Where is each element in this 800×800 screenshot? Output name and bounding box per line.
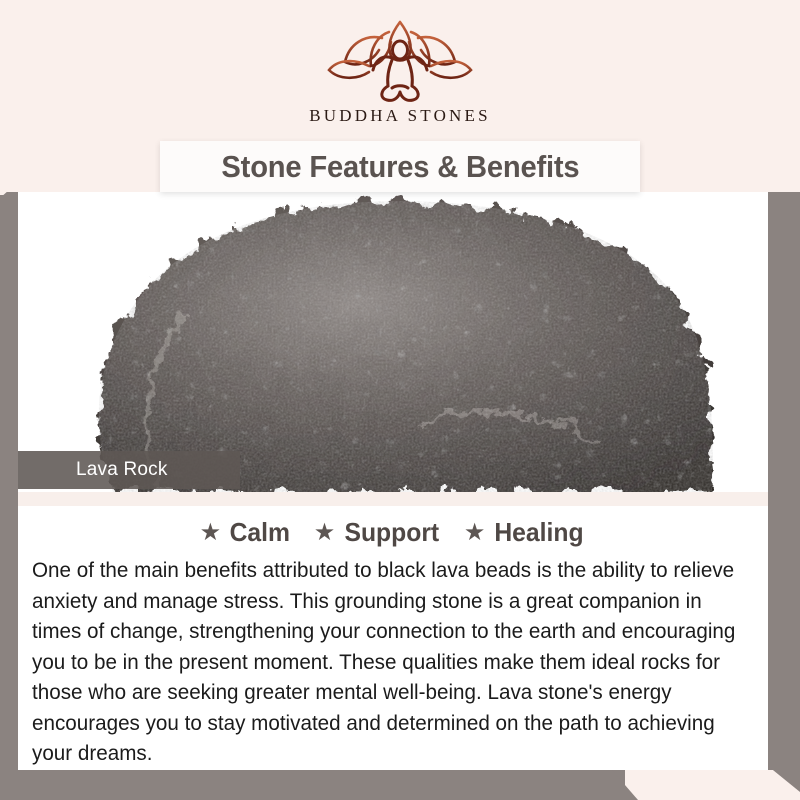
frame-right-bevel xyxy=(768,766,800,800)
benefit-label: Support xyxy=(345,517,440,548)
frame-bottom-accent xyxy=(0,770,625,800)
content-section: ★ Calm ★ Support ★ Healing One of the ma… xyxy=(18,506,768,770)
benefit-item-healing: ★ Healing xyxy=(464,517,586,548)
brand-logo: BUDDHA STONES xyxy=(0,16,800,126)
lava-rock-image xyxy=(18,192,768,492)
title-banner: Stone Features & Benefits xyxy=(160,141,640,192)
benefit-item-support: ★ Support xyxy=(314,517,442,548)
section-divider xyxy=(18,492,768,506)
description-text: One of the main benefits attributed to b… xyxy=(32,555,740,769)
benefit-label: Healing xyxy=(495,517,584,548)
benefit-item-calm: ★ Calm xyxy=(200,517,292,548)
benefits-row: ★ Calm ★ Support ★ Healing xyxy=(18,506,768,548)
benefit-label: Calm xyxy=(230,517,290,548)
star-icon: ★ xyxy=(200,521,222,545)
page-title: Stone Features & Benefits xyxy=(221,149,579,185)
lotus-meditation-icon xyxy=(325,16,475,104)
star-icon: ★ xyxy=(464,521,486,545)
photo-caption-label: Lava Rock xyxy=(76,459,168,481)
stone-photo xyxy=(18,192,768,492)
photo-caption-bar: Lava Rock xyxy=(18,451,240,489)
star-icon: ★ xyxy=(314,521,336,545)
brand-name: BUDDHA STONES xyxy=(309,106,491,126)
frame-left-accent xyxy=(0,195,18,800)
stone-benefits-infographic: BUDDHA STONES xyxy=(0,0,800,800)
